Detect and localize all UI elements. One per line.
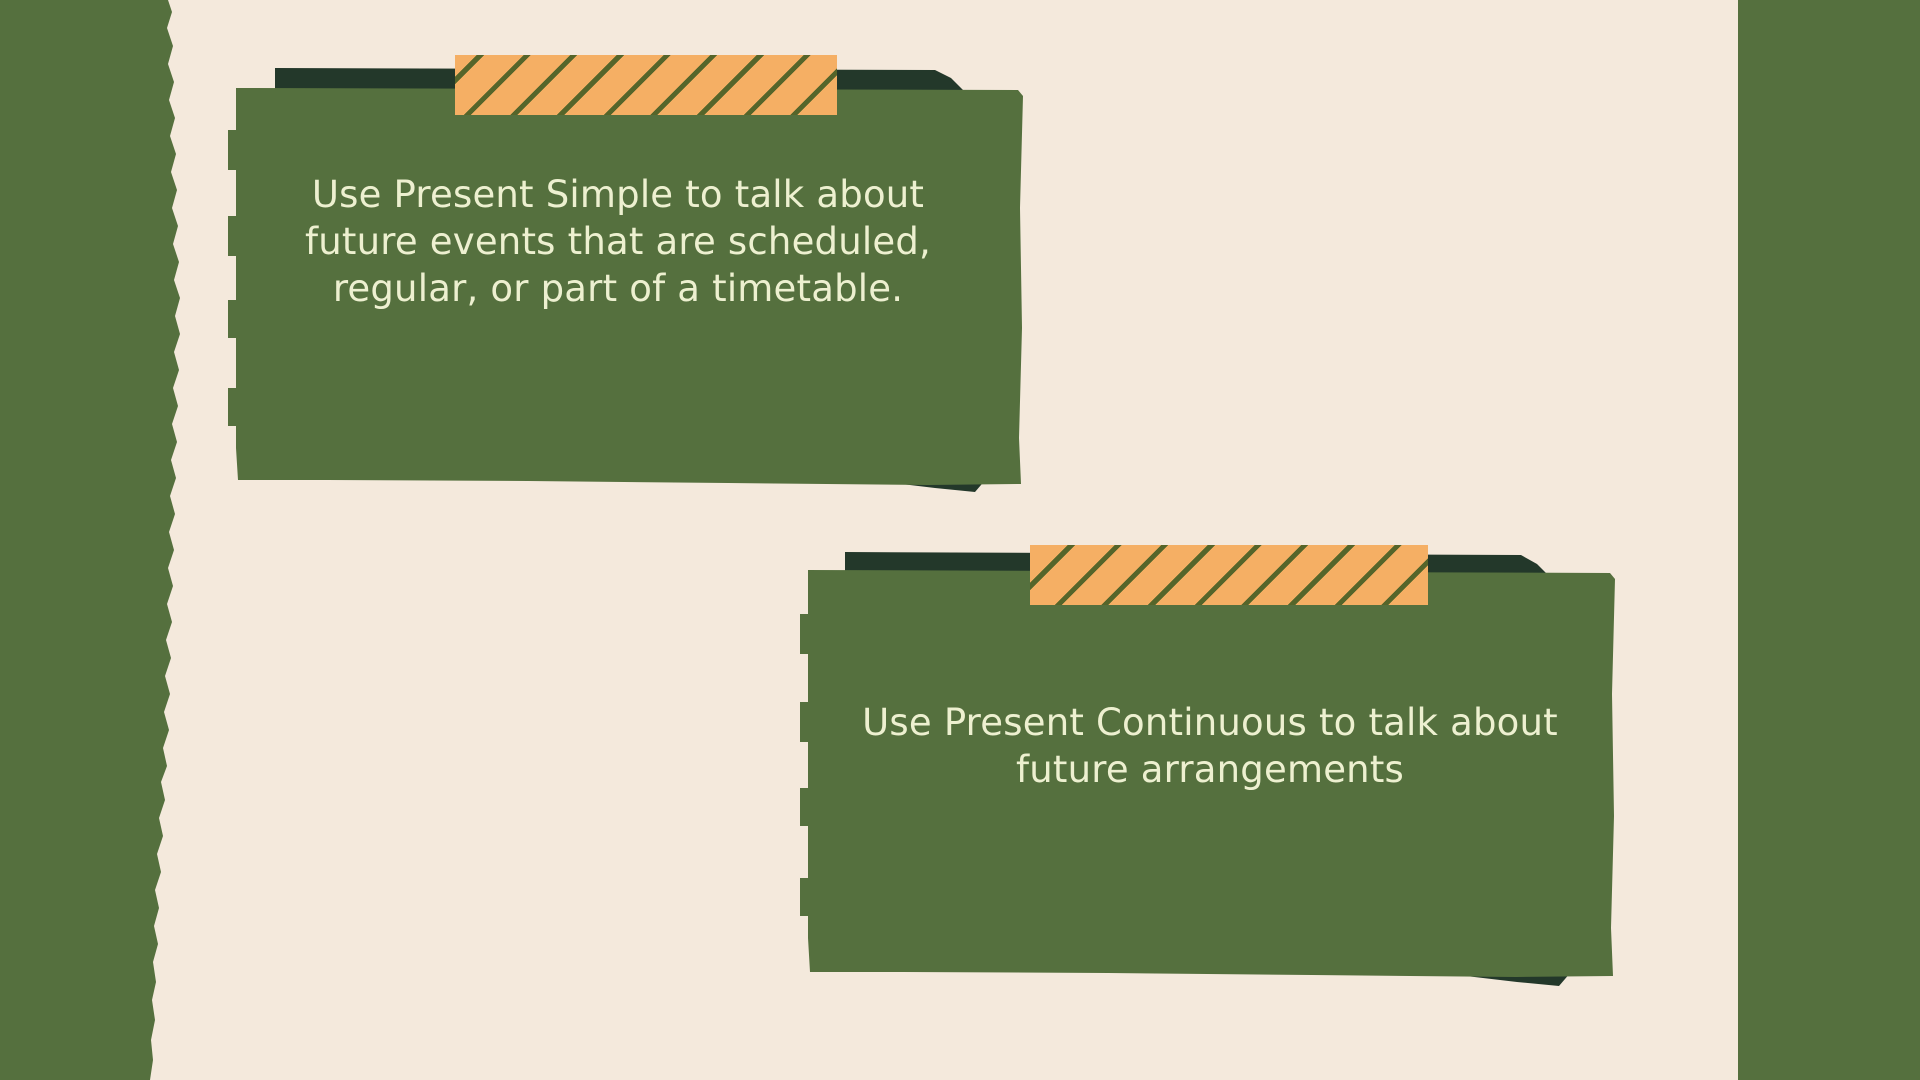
card-present-continuous-text: Use Present Continuous to talk about fut… (845, 700, 1575, 794)
washi-tape-present-continuous (1030, 545, 1428, 605)
slide-canvas: Use Present Simple to talk about future … (0, 0, 1920, 1080)
card-present-continuous[interactable]: Use Present Continuous to talk about fut… (0, 0, 1920, 1080)
